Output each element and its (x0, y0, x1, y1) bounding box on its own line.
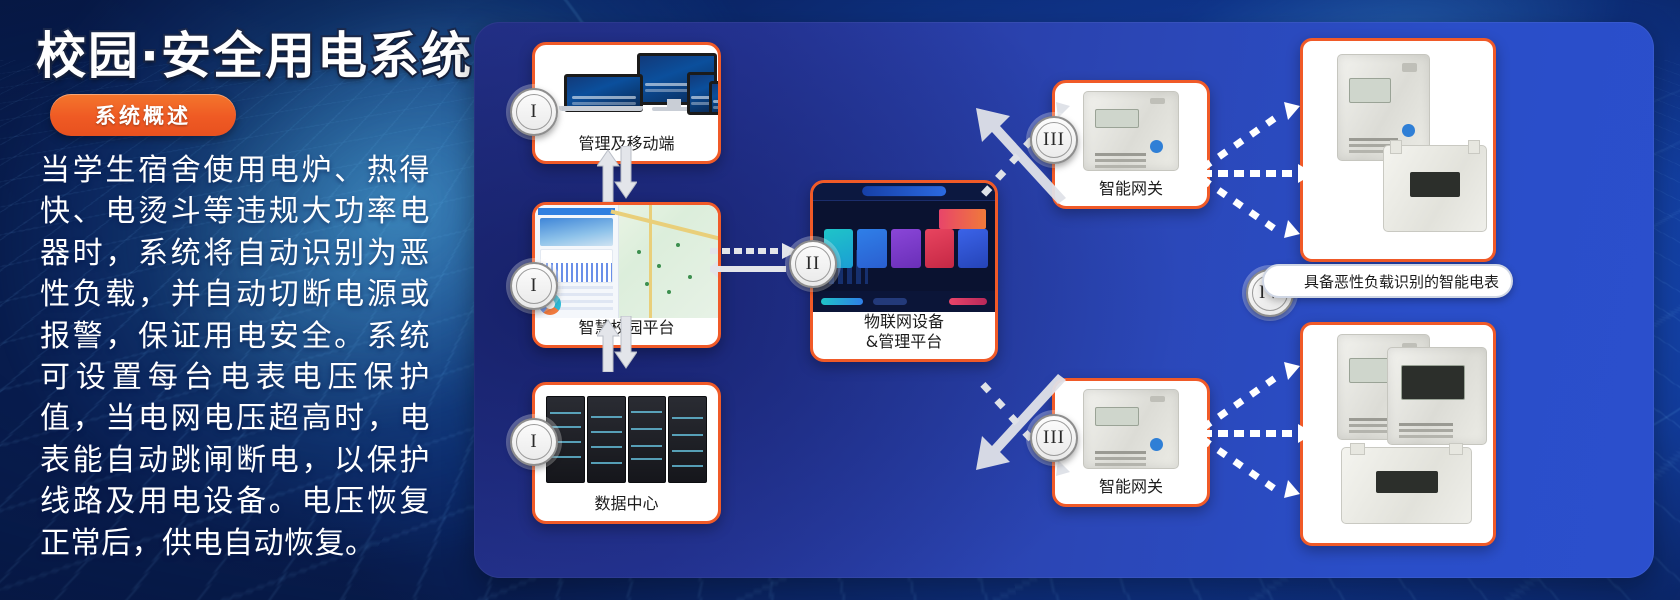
smart-meter-device (1387, 347, 1488, 445)
server-rack (668, 396, 707, 483)
gateway-display (1095, 109, 1138, 128)
section-badge-label: 系统概述 (95, 100, 191, 130)
devices-icon (535, 45, 718, 134)
node-datacenter-label: 数据中心 (535, 494, 718, 521)
gateway-button (1150, 140, 1163, 153)
meter-display (1410, 172, 1459, 198)
gateway-port (1150, 98, 1165, 104)
iot-header-title (862, 187, 946, 197)
gateway-port (1150, 396, 1165, 402)
dashboard-icon (535, 205, 718, 318)
meter-display (1349, 78, 1391, 103)
iot-tile (857, 229, 887, 268)
smart-meter-icon (1387, 347, 1486, 443)
numeral-badge-gateway-bottom: III (1030, 414, 1078, 462)
numeral-badge-campus: I (510, 262, 558, 310)
meter-print (1399, 423, 1452, 426)
screenshot-root: 校园·安全用电系统 系统概述 当学生宿舍使用电炉、热得快、电烫斗等违规大功率电器… (0, 0, 1680, 600)
arrow-gateway-top-to-meters (1200, 82, 1330, 252)
server-rack (628, 396, 667, 483)
meter-clip (1449, 443, 1464, 455)
numeral-badge-gateway-top: III (1030, 116, 1078, 164)
gateway-print (1095, 451, 1146, 454)
numeral-badge-datacenter: I (510, 418, 558, 466)
section-badge: 系统概述 (50, 94, 236, 136)
meter-clip (1350, 443, 1365, 455)
gateway-device (1083, 389, 1179, 470)
smart-meter-icon (1383, 137, 1486, 246)
left-column: 校园·安全用电系统 系统概述 当学生宿舍使用电炉、热得快、电烫斗等违规大功率电器… (0, 0, 470, 600)
map-road-main (611, 210, 718, 245)
iot-tile (925, 229, 955, 268)
meter-port (1402, 63, 1417, 71)
iot-footer (813, 291, 995, 312)
dashboard-map (619, 205, 718, 318)
meter-clip (1390, 140, 1402, 154)
map-pin (676, 243, 680, 247)
map-pin (645, 282, 649, 286)
phone-screen (709, 81, 718, 115)
iot-footer-pill (873, 298, 907, 305)
iot-tile (891, 229, 921, 268)
smart-meter-device-wide (1383, 145, 1488, 232)
arrow-up-down-management-campus (597, 146, 637, 202)
map-road-vertical (649, 205, 652, 318)
arrow-gateway-bottom-to-meters (1200, 342, 1330, 512)
node-iot-label-line1: 物联网设备 (813, 312, 995, 332)
iot-tiles (824, 229, 988, 268)
page-title: 校园·安全用电系统 (36, 16, 473, 88)
arrow-up-down-campus-datacenter (597, 316, 637, 372)
numeral-badge-management: I (510, 88, 558, 136)
map-pin (637, 250, 641, 254)
iot-platform-icon (813, 183, 995, 312)
meter-group-label-text: 具备恶性负载识别的智能电表 (1304, 271, 1499, 292)
gateway-button (1150, 438, 1163, 451)
numeral-badge-iot: II (789, 240, 837, 288)
map-pin (667, 290, 671, 294)
diagram-panel: 管理及移动端 I (474, 22, 1654, 578)
smart-meter-device-wide (1341, 447, 1472, 524)
dashboard-topbar (538, 208, 615, 215)
overview-paragraph: 当学生宿舍使用电炉、热得快、电烫斗等违规大功率电器时，系统将自动识别为恶性负载，… (40, 150, 430, 564)
meter-display (1401, 365, 1464, 400)
node-iot-card[interactable]: 物联网设备 &管理平台 (810, 180, 998, 362)
dashboard-photo (540, 218, 613, 246)
server-rack (587, 396, 626, 483)
meter-display (1376, 471, 1438, 493)
iot-tile (958, 229, 988, 268)
node-iot-label-line2: &管理平台 (813, 332, 995, 352)
node-iot-label: 物联网设备 &管理平台 (813, 312, 995, 359)
gateway-display (1095, 407, 1138, 426)
meter-display (1349, 358, 1391, 383)
map-pin (657, 264, 661, 268)
iot-footer-pill (821, 298, 863, 305)
map-pin (688, 275, 692, 279)
laptop-base (559, 106, 643, 110)
smart-meter-icon (1341, 447, 1470, 534)
gateway-device (1083, 91, 1179, 172)
node-datacenter-card[interactable]: 数据中心 (532, 382, 721, 524)
meter-group-label: 具备恶性负载识别的智能电表 (1262, 264, 1513, 298)
server-rack-icon (535, 385, 718, 494)
meter-clip (1468, 140, 1480, 154)
meter-button (1402, 124, 1415, 137)
iot-footer-pill (949, 298, 987, 305)
iot-header (813, 183, 995, 201)
gateway-print (1095, 153, 1146, 156)
